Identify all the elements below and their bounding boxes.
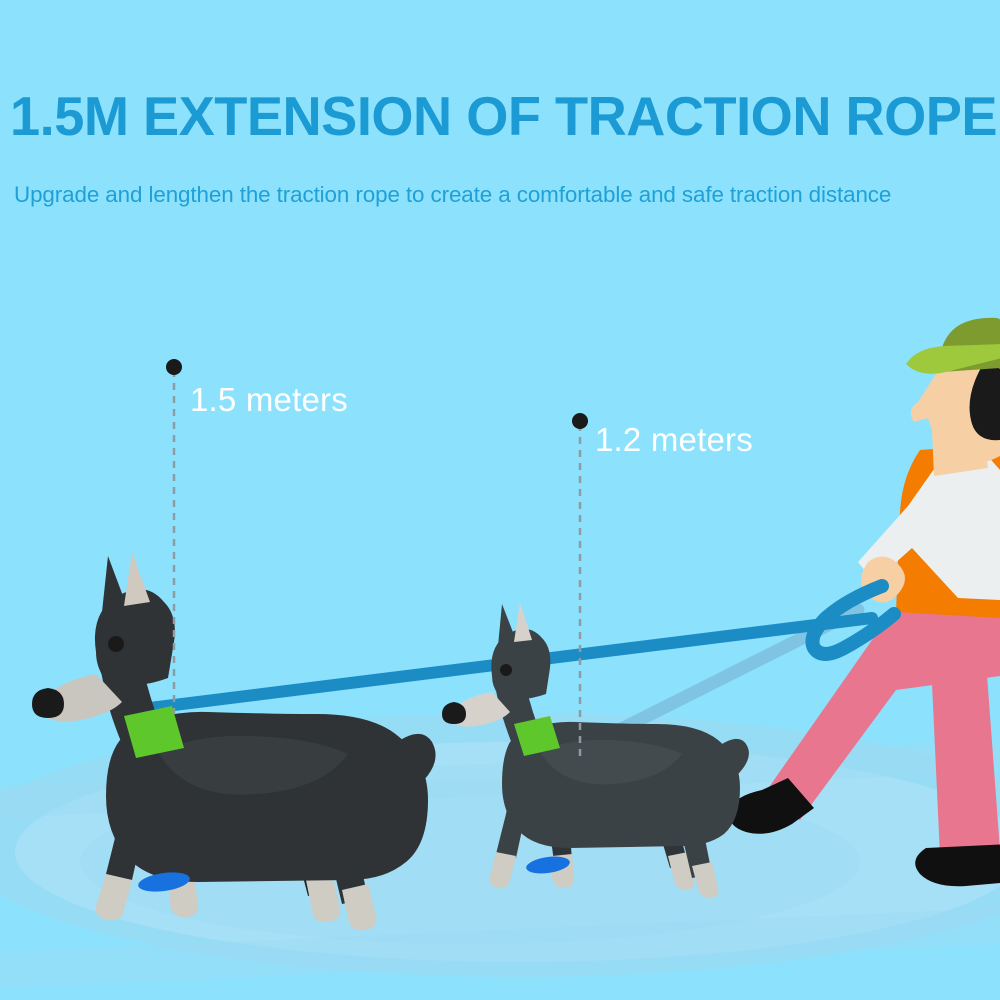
guide-dot-short <box>572 413 588 429</box>
scene-illustration <box>0 0 1000 1000</box>
small-dog-eye <box>500 664 512 676</box>
large-dog-eye <box>108 636 124 652</box>
large-dog-nose <box>32 688 64 718</box>
guide-dot-long <box>166 359 182 375</box>
poster-canvas: 1.5M EXTENSION OF TRACTION ROPE Upgrade … <box>0 0 1000 1000</box>
